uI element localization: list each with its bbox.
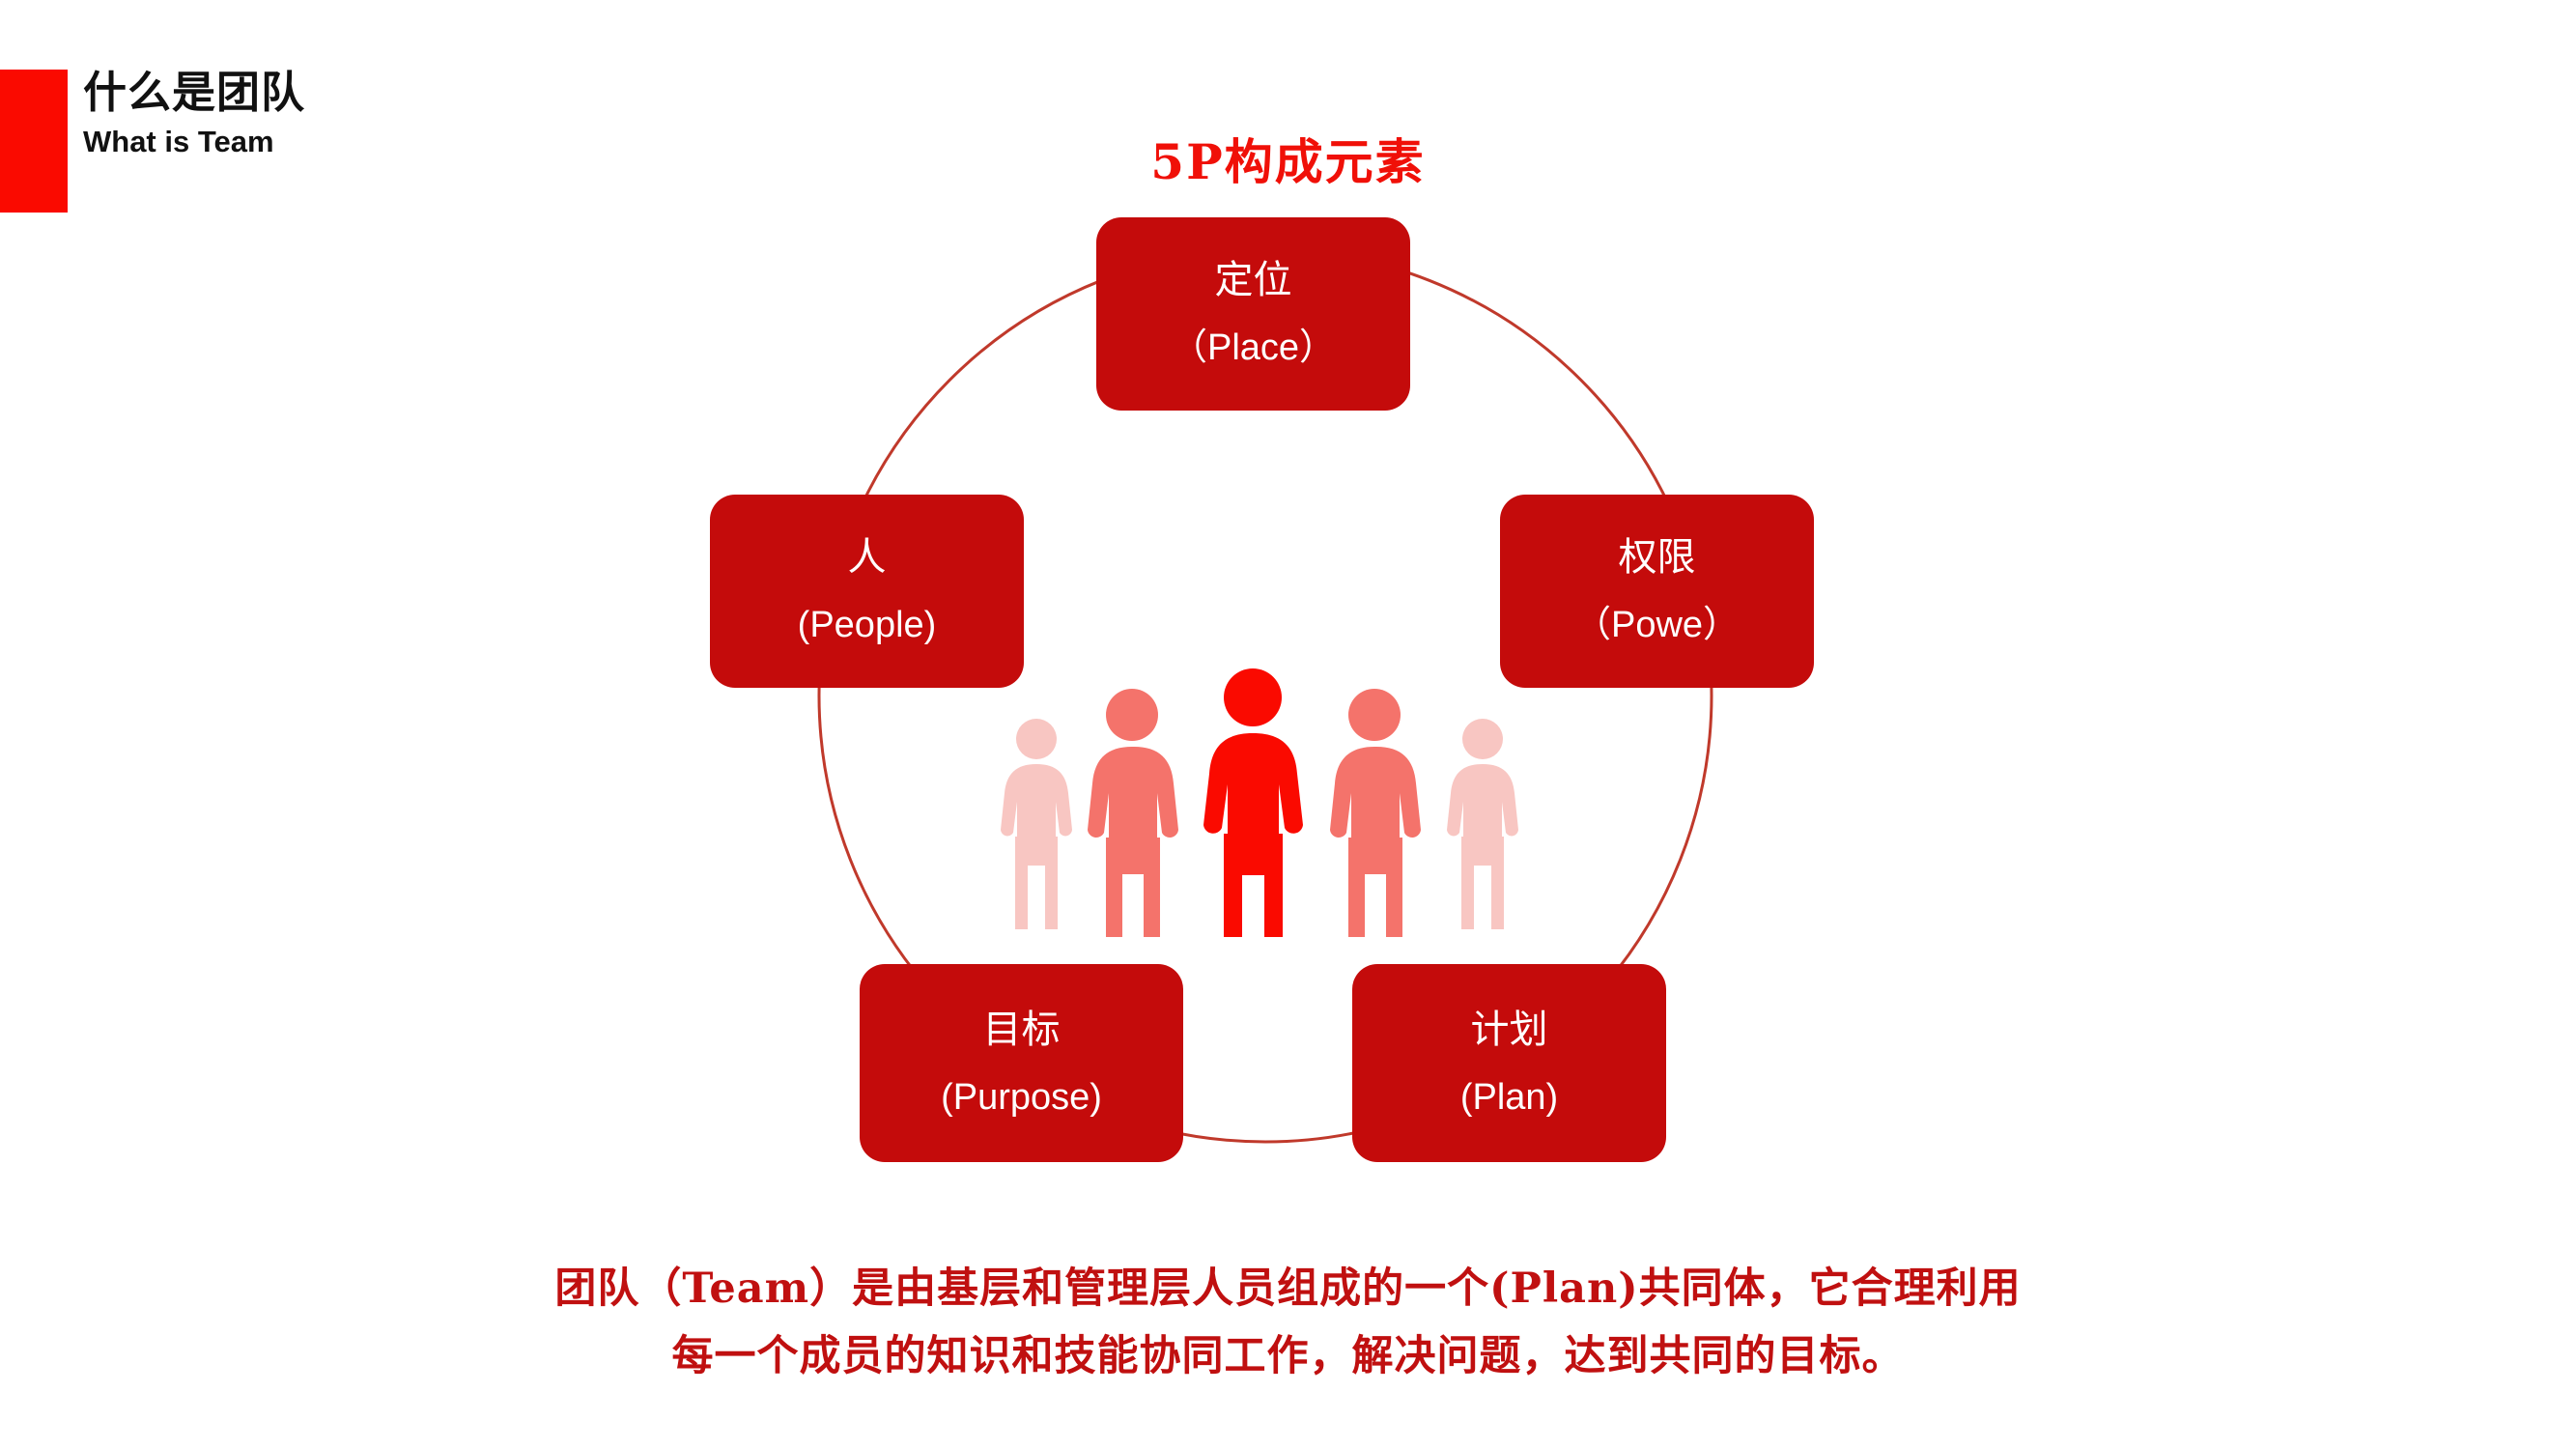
node-plan[interactable]: 计划 (Plan)	[1352, 964, 1666, 1162]
caption-block: 团队（Team）是由基层和管理层人员组成的一个(Plan)共同体，它合理利用 每…	[0, 1256, 2576, 1390]
person-icon-4	[1330, 689, 1421, 937]
person-icon-1	[1001, 719, 1072, 929]
node-people-label-cn: 人	[848, 536, 887, 579]
person-icon-3-center	[1203, 668, 1303, 937]
person-icon-2	[1088, 689, 1178, 937]
diagram-stage: 定位 （Place） 权限 （Powe） 人 (People) 目标 (Purp…	[0, 0, 2576, 1449]
node-people[interactable]: 人 (People)	[710, 495, 1024, 688]
node-place-label-en: （Place）	[1171, 328, 1336, 369]
node-place[interactable]: 定位 （Place）	[1096, 217, 1410, 411]
node-place-label-cn: 定位	[1215, 259, 1292, 301]
node-people-label-en: (People)	[798, 606, 937, 646]
node-power-label-en: （Powe）	[1574, 606, 1740, 646]
people-team-icon	[1000, 667, 1526, 937]
node-purpose[interactable]: 目标 (Purpose)	[860, 964, 1183, 1162]
node-power[interactable]: 权限 （Powe）	[1500, 495, 1814, 688]
node-power-label-cn: 权限	[1619, 536, 1696, 579]
node-purpose-label-en: (Purpose)	[941, 1078, 1102, 1119]
node-plan-label-en: (Plan)	[1460, 1078, 1558, 1119]
caption-line-1: 团队（Team）是由基层和管理层人员组成的一个(Plan)共同体，它合理利用	[0, 1256, 2576, 1323]
person-icon-5	[1447, 719, 1518, 929]
node-plan-label-cn: 计划	[1471, 1009, 1548, 1051]
node-purpose-label-cn: 目标	[983, 1009, 1061, 1051]
caption-line-2: 每一个成员的知识和技能协同工作，解决问题，达到共同的目标。	[0, 1323, 2576, 1391]
